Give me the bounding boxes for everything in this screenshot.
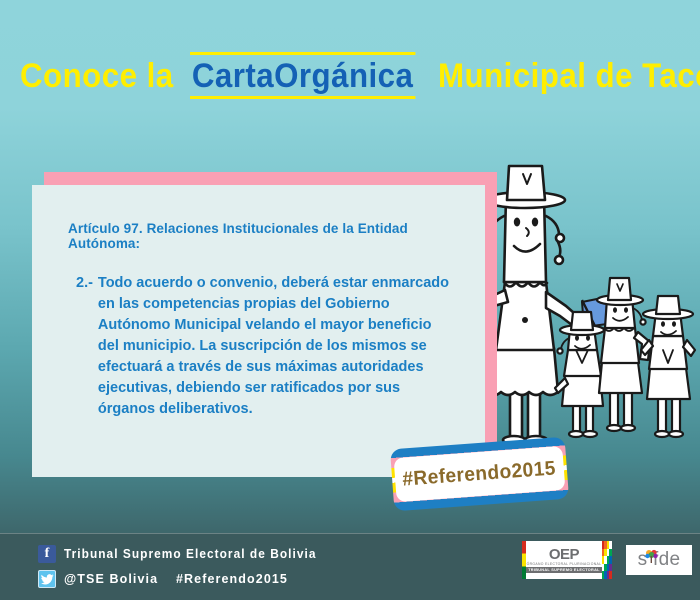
twitter-hashtag: #Referendo2015 [176, 572, 288, 586]
social-links: f Tribunal Supremo Electoral de Bolivia … [38, 543, 330, 593]
oep-subtitle-2: TRIBUNAL SUPREMO ELECTORAL [526, 567, 602, 573]
title-part-1: Conoce la [20, 56, 174, 96]
twitter-bird-glyph [41, 574, 54, 585]
oep-acronym: OEP [549, 547, 579, 562]
twitter-row[interactable]: @TSE Bolivia #Referendo2015 [38, 568, 330, 590]
footer-bar: f Tribunal Supremo Electoral de Bolivia … [0, 533, 700, 600]
twitter-handle: @TSE Bolivia [64, 572, 176, 586]
facebook-icon[interactable]: f [38, 545, 56, 563]
article-clause: 2.- Todo acuerdo o convenio, deberá esta… [68, 273, 455, 420]
article-card: Artículo 97. Relaciones Institucionales … [32, 172, 497, 477]
poster-canvas: Conoce laCartaOrgánicaMunicipal de Tacop… [0, 0, 700, 600]
footer-logos: OEP ÓRGANO ELECTORAL PLURINACIONAL TRIBU… [522, 541, 692, 579]
badge-text: #Referendo2015 [402, 457, 557, 491]
tree-icon [645, 549, 658, 563]
wiphala-icon [602, 541, 612, 579]
clause-text: Todo acuerdo o convenio, deberá estar en… [98, 273, 455, 420]
footer-divider [0, 533, 700, 534]
facebook-row[interactable]: f Tribunal Supremo Electoral de Bolivia [38, 543, 330, 565]
hashtag-badge: #Referendo2015 [390, 437, 569, 512]
sifde-logo: s fde [626, 545, 692, 575]
card-body: Artículo 97. Relaciones Institucionales … [32, 185, 485, 477]
cholita-characters-illustration [470, 160, 700, 460]
twitter-icon[interactable] [38, 570, 56, 588]
title-highlight: CartaOrgánica [190, 52, 415, 99]
title-part-2: Municipal de Tacopaya [438, 56, 700, 96]
page-title: Conoce laCartaOrgánicaMunicipal de Tacop… [20, 52, 680, 98]
clause-number: 2.- [76, 273, 93, 420]
article-heading: Artículo 97. Relaciones Institucionales … [68, 221, 455, 251]
facebook-label: Tribunal Supremo Electoral de Bolivia [64, 547, 316, 561]
oep-logo-text: OEP ÓRGANO ELECTORAL PLURINACIONAL TRIBU… [526, 541, 602, 579]
oep-logo: OEP ÓRGANO ELECTORAL PLURINACIONAL TRIBU… [522, 541, 612, 579]
